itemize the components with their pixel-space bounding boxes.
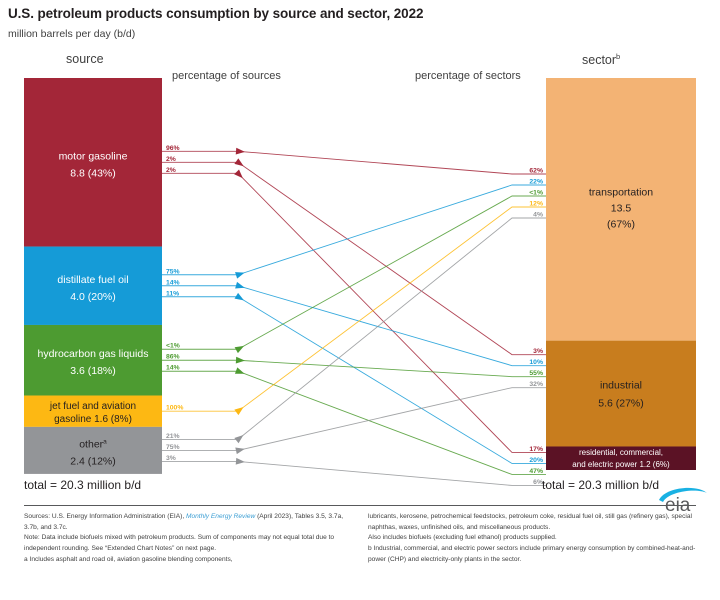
eia-logo: eia (655, 484, 711, 514)
sector-blocks-group: transportation13.5(67%)industrial5.6 (27… (546, 78, 696, 470)
footnote-marker-a: a (103, 438, 107, 445)
sector-label-rce: residential, commercial, (579, 448, 663, 457)
sector-pct-hgl-to-rce: 47% (529, 468, 543, 475)
footnote-source-pre: Sources: U.S. Energy Information Adminis… (24, 513, 186, 520)
sector-share-transportation: (67%) (607, 218, 635, 230)
sector-label-transportation: transportation (589, 186, 653, 198)
sector-pct-other-to-transportation: 4% (533, 212, 543, 219)
source-label-hgl: hydrocarbon gas liquids (38, 348, 149, 360)
flow-arrow-motor_gasoline-to-rce (234, 169, 243, 178)
source-label-motor_gasoline: motor gasoline (59, 150, 128, 162)
flow-line-distillate-to-rce (162, 297, 546, 464)
flow-arrow-other-to-industrial (235, 448, 245, 455)
footnote-a: a Includes asphalt and road oil, aviatio… (24, 555, 354, 566)
footnotes-left: Sources: U.S. Energy Information Adminis… (24, 512, 354, 565)
source-value-hgl: 3.6 (18%) (70, 365, 116, 377)
flow-arrow-hgl-to-transportation (235, 346, 245, 353)
monthly-energy-review-link[interactable]: Monthly Energy Review (186, 513, 255, 520)
flow-lines-group (162, 148, 546, 486)
source-blocks-group: motor gasoline8.8 (43%)distillate fuel o… (24, 78, 162, 474)
source-pct-motor_gasoline-to-industrial: 2% (166, 156, 176, 163)
flow-line-hgl-to-transportation (162, 196, 546, 349)
sector-pct-hgl-to-industrial: 55% (529, 370, 543, 377)
source-label-distillate: distillate fuel oil (57, 274, 128, 286)
source-pct-distillate-to-rce: 11% (166, 290, 179, 297)
sector-block-industrial[interactable] (546, 341, 696, 447)
source-value-other: 2.4 (12%) (70, 455, 116, 467)
sector-label-industrial: industrial (600, 380, 642, 392)
flow-line-hgl-to-rce (162, 371, 546, 474)
flow-arrow-distillate-to-transportation (235, 272, 245, 278)
sector-value-transportation: 13.5 (611, 202, 632, 214)
sankey-flow-diagram: motor gasoline8.8 (43%)distillate fuel o… (0, 0, 720, 600)
footnote-source: Sources: U.S. Energy Information Adminis… (24, 512, 354, 533)
flow-line-distillate-to-industrial (162, 286, 546, 366)
source-pct-other-to-transportation: 21% (166, 433, 180, 440)
footnote-divider (24, 505, 696, 506)
footnote-b: b Industrial, commercial, and electric p… (368, 544, 708, 565)
sector-pct-hgl-to-transportation: <1% (529, 190, 543, 197)
sector-pct-distillate-to-transportation: 22% (529, 179, 543, 186)
sector-pct-distillate-to-rce: 20% (529, 457, 543, 464)
flow-line-motor_gasoline-to-rce (162, 173, 546, 452)
flow-arrow-distillate-to-rce (235, 293, 244, 301)
source-value-jet: gasoline 1.6 (8%) (54, 414, 132, 425)
source-pct-hgl-to-rce: 14% (166, 365, 180, 372)
chart-page: U.S. petroleum products consumption by s… (0, 0, 720, 600)
flow-percentage-labels-group: 96%62%2%3%2%17%75%22%14%10%11%20%<1%<1%8… (166, 145, 543, 486)
flow-line-other-to-transportation (162, 218, 546, 439)
sector-pct-motor_gasoline-to-transportation: 62% (529, 168, 543, 175)
flow-arrow-hgl-to-industrial (236, 357, 245, 364)
flow-line-motor_gasoline-to-industrial (162, 162, 546, 354)
source-pct-distillate-to-transportation: 75% (166, 268, 180, 275)
source-value-distillate: 4.0 (20%) (70, 291, 116, 303)
total-left-label: total = 20.3 million b/d (24, 478, 141, 492)
flow-line-distillate-to-transportation (162, 185, 546, 275)
sector-value-industrial: 5.6 (27%) (598, 398, 644, 410)
flow-arrow-distillate-to-industrial (235, 282, 245, 289)
eia-logo-text: eia (665, 495, 691, 514)
source-value-motor_gasoline: 8.8 (43%) (70, 167, 116, 179)
total-right-label: total = 20.3 million b/d (542, 478, 659, 492)
sector-pct-jet-to-transportation: 12% (529, 201, 543, 208)
sector-pct-motor_gasoline-to-rce: 17% (529, 446, 543, 453)
flow-arrow-motor_gasoline-to-transportation (236, 148, 245, 155)
source-pct-hgl-to-transportation: <1% (166, 343, 180, 350)
source-pct-other-to-rce: 3% (166, 455, 176, 462)
flow-arrow-other-to-transportation (234, 435, 243, 443)
source-pct-jet-to-transportation: 100% (166, 405, 183, 412)
footnotes-right: lubricants, kerosene, petrochemical feed… (368, 512, 708, 565)
flow-line-other-to-industrial (162, 388, 546, 451)
source-label-other: othera (79, 438, 107, 450)
source-pct-distillate-to-industrial: 14% (166, 279, 180, 286)
flow-line-other-to-rce (162, 461, 546, 485)
flow-line-hgl-to-industrial (162, 360, 546, 376)
source-pct-hgl-to-industrial: 86% (166, 354, 180, 361)
sector-pct-other-to-industrial: 32% (529, 381, 543, 388)
source-pct-other-to-industrial: 75% (166, 444, 180, 451)
source-pct-motor_gasoline-to-transportation: 96% (166, 145, 180, 152)
footnote-note: Note: Data include biofuels mixed with p… (24, 533, 354, 554)
flow-arrow-hgl-to-rce (235, 367, 245, 373)
footnote-a-cont2: Also includes biofuels (excluding fuel e… (368, 533, 708, 544)
flow-arrow-jet-to-transportation (234, 407, 243, 415)
source-pct-motor_gasoline-to-rce: 2% (166, 167, 176, 174)
flow-arrow-motor_gasoline-to-industrial (234, 158, 243, 166)
sector-pct-distillate-to-industrial: 10% (529, 359, 543, 366)
source-label-jet: jet fuel and aviation (49, 401, 136, 412)
sector-value-rce: and electric power 1.2 (6%) (572, 460, 670, 469)
footnote-a-cont: lubricants, kerosene, petrochemical feed… (368, 512, 708, 533)
flow-arrow-other-to-rce (236, 458, 245, 465)
sector-pct-motor_gasoline-to-industrial: 3% (533, 348, 543, 355)
